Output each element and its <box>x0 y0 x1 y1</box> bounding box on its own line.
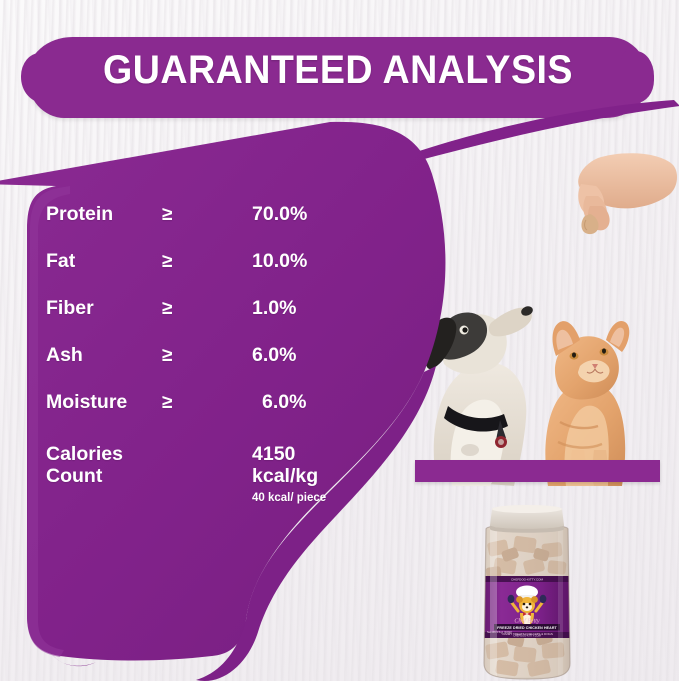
calories-value-line2: kcal/kg <box>252 465 318 487</box>
row-operator: ≥ <box>162 345 172 367</box>
row-label: Moisture <box>46 391 127 414</box>
hand-holding-treat <box>578 153 677 234</box>
nutrition-table: Protein ≥ 70.0% Fat ≥ 10.0% Fiber ≥ 1.0%… <box>46 203 346 533</box>
row-label: Ash <box>46 344 83 367</box>
svg-text:CHEFDOG-KITTY.COM: CHEFDOG-KITTY.COM <box>513 634 541 638</box>
row-label: Fat <box>46 250 75 273</box>
calories-row: Calories Count 4150 kcal/kg 40 kcal/ pie… <box>46 443 346 533</box>
guaranteed-analysis-infographic: GUARANTEED ANALYSIS Protein ≥ 70.0% Fat … <box>0 0 679 681</box>
row-label: Fiber <box>46 297 94 320</box>
table-row: Ash ≥ 6.0% <box>46 344 346 391</box>
page-title: GUARANTEED ANALYSIS <box>46 48 631 93</box>
calories-label-line2: Count <box>46 465 123 487</box>
table-row: Fiber ≥ 1.0% <box>46 297 346 344</box>
svg-text:Chef Betty: Chef Betty <box>514 618 539 625</box>
calories-value: 4150 kcal/kg <box>252 443 318 487</box>
row-operator: ≥ <box>162 204 172 226</box>
svg-text:CHEFDOG-KITTY.COM: CHEFDOG-KITTY.COM <box>511 578 543 582</box>
row-value: 10.0% <box>252 250 307 273</box>
platform-bar <box>415 460 660 482</box>
product-jar: Chef Betty FREEZE DRIED CHICKEN HEART YU… <box>470 503 584 681</box>
row-value: 6.0% <box>262 391 306 414</box>
table-row: Moisture ≥ 6.0% <box>46 391 346 438</box>
table-row: Fat ≥ 10.0% <box>46 250 346 297</box>
row-operator: ≥ <box>162 392 172 414</box>
row-value: 1.0% <box>252 297 296 320</box>
row-label: Protein <box>46 203 113 226</box>
row-value: 6.0% <box>252 344 296 367</box>
calories-note: 40 kcal/ piece <box>252 492 326 504</box>
row-value: 70.0% <box>252 203 307 226</box>
row-operator: ≥ <box>162 298 172 320</box>
table-row: Protein ≥ 70.0% <box>46 203 346 250</box>
row-operator: ≥ <box>162 251 172 273</box>
calories-label-line1: Calories <box>46 443 123 465</box>
calories-value-line1: 4150 <box>252 443 318 465</box>
calories-label: Calories Count <box>46 443 123 487</box>
